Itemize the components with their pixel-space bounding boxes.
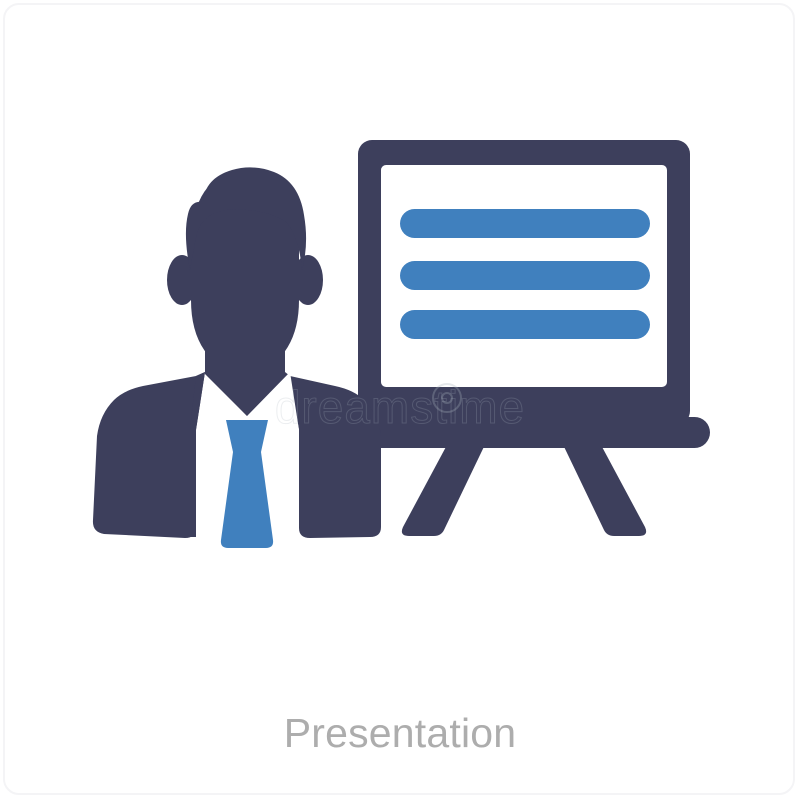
icon-canvas: dreamstime Presentation xyxy=(0,0,800,800)
presentation-icon-svg xyxy=(0,0,800,640)
board-content-line-2 xyxy=(400,261,650,290)
presentation-icon xyxy=(0,0,800,640)
board-content-line-1 xyxy=(400,209,650,238)
icon-caption: Presentation xyxy=(0,713,800,754)
board-content-line-3 xyxy=(400,310,650,339)
